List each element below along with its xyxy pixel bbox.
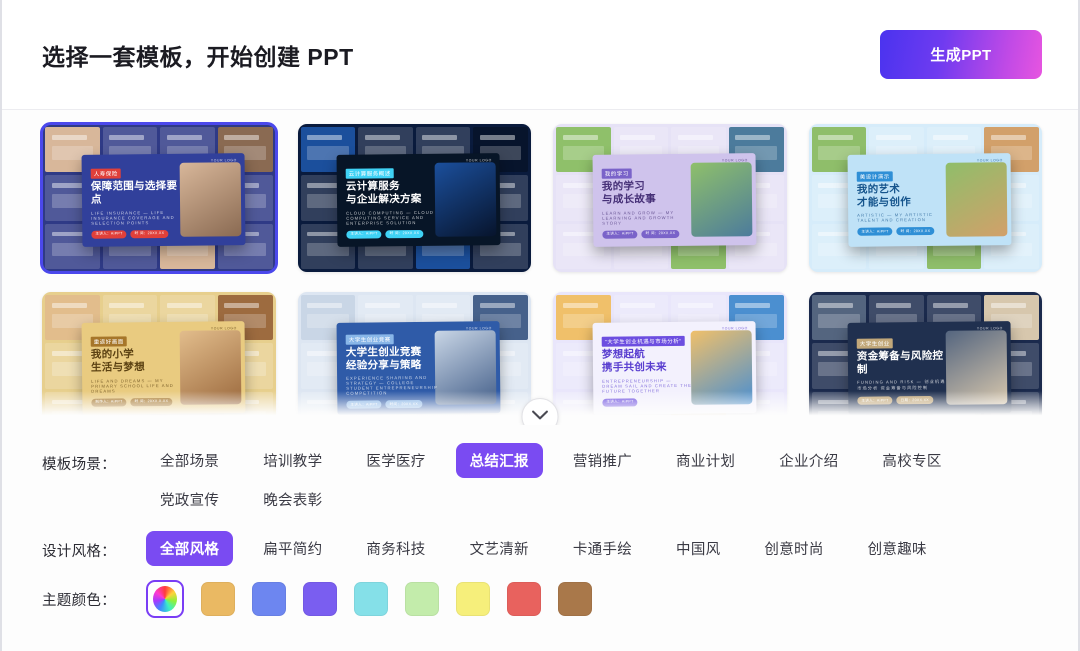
template-meta-item: 主讲人：AiPPT <box>347 400 382 409</box>
template-meta-item: 时 间：20XX.X.XX <box>130 397 172 406</box>
template-meta-item: 主讲人：AiPPT <box>91 229 126 238</box>
template-subtitle: LEARN AND GROW — MY LEARNING AND GROWTH … <box>602 209 694 225</box>
template-photo <box>690 330 751 404</box>
scene-chip-医学医疗[interactable]: 医学医疗 <box>352 443 439 478</box>
template-title: 保障范围与选择要点 <box>90 179 183 206</box>
template-meta: 主讲人：AiPPT时间：20XX.XX <box>347 399 439 408</box>
template-logo: YOUR LOGO <box>722 325 748 329</box>
style-chip-group: 全部风格扁平简约商务科技文艺清新卡通手绘中国风创意时尚创意趣味 <box>146 531 1042 566</box>
scene-chip-晚会表彰[interactable]: 晚会表彰 <box>249 482 336 517</box>
template-text-block: 重返好画面我的小学 生活与梦想LIFE AND DREAMS — MY PRIM… <box>81 329 183 406</box>
color-swatch-8[interactable] <box>558 582 592 616</box>
template-meta: 主讲人：AiPPT日期：20XX.XX <box>857 395 949 404</box>
color-filter-label: 主题颜色： <box>42 580 146 610</box>
template-title: 云计算服务 与企业解决方案 <box>346 179 439 206</box>
template-text-block: 人寿保险保障范围与选择要点LIFE INSURANCE — LIFE INSUR… <box>81 161 183 238</box>
chevron-down-icon <box>532 408 549 426</box>
template-logo: YOUR LOGO <box>722 157 748 161</box>
template-card[interactable]: YOUR LOGO云计算服务概述云计算服务 与企业解决方案CLOUD COMPU… <box>298 124 532 272</box>
scene-chip-总结汇报[interactable]: 总结汇报 <box>456 443 543 478</box>
template-meta-item: 主讲人：AiPPT <box>347 229 382 238</box>
scene-chip-group: 全部场景培训教学医学医疗总结汇报营销推广商业计划企业介绍高校专区党政宣传晚会表彰 <box>146 443 1042 517</box>
template-kicker: 我的学习 <box>601 168 631 178</box>
template-card[interactable]: YOUR LOGO"大学生创业机遇与市场分析"梦想起航 携手共创未来ENTREP… <box>553 292 787 425</box>
template-meta-item: 时 间：20XX.XX <box>897 227 935 236</box>
template-hero-slide: YOUR LOGO"大学生创业机遇与市场分析"梦想起航 携手共创未来ENTREP… <box>592 321 756 414</box>
color-swatch-2[interactable] <box>252 582 286 616</box>
template-kicker: "大学生创业机遇与市场分析" <box>601 336 684 347</box>
template-hero-slide: YOUR LOGO美设计演示我的艺术 才能与创作ARTISTIC — MY AR… <box>848 153 1012 246</box>
style-filter-label: 设计风格： <box>42 531 146 561</box>
template-subtitle: EXPERIENCE SHARING AND STRATEGY — COLLEG… <box>346 374 439 395</box>
color-swatch-group <box>146 580 592 618</box>
template-meta-item: 主讲人：AiPPT <box>602 229 637 238</box>
template-logo: YOUR LOGO <box>211 157 237 161</box>
template-card[interactable]: YOUR LOGO美设计演示我的艺术 才能与创作ARTISTIC — MY AR… <box>809 124 1043 272</box>
template-kicker: 重返好画面 <box>90 336 126 346</box>
template-text-block: 大学生创业资金筹备与风险控制FUNDING AND RISK — 创业机遇市场分… <box>848 331 950 405</box>
filter-row-scene: 模板场景： 全部场景培训教学医学医疗总结汇报营销推广商业计划企业介绍高校专区党政… <box>42 443 1042 517</box>
template-kicker: 云计算服务概述 <box>346 168 394 179</box>
template-photo <box>946 162 1007 236</box>
template-photo <box>690 162 751 236</box>
template-meta-item: 主讲人：AiPPT <box>857 227 892 236</box>
template-meta-item: 主讲人：AiPPT <box>857 396 892 405</box>
style-chip-创意趣味[interactable]: 创意趣味 <box>854 531 941 566</box>
template-title: 资金筹备与风险控制 <box>857 349 950 376</box>
template-text-block: 美设计演示我的艺术 才能与创作ARTISTIC — MY ARTISTIC TA… <box>848 164 950 236</box>
template-card[interactable]: YOUR LOGO我的学习我的学习 与成长故事LEARN AND GROW — … <box>553 124 787 272</box>
template-title: 我的艺术 才能与创作 <box>857 182 950 209</box>
page-title: 选择一套模板，开始创建 PPT <box>42 38 354 72</box>
template-text-block: 我的学习我的学习 与成长故事LEARN AND GROW — MY LEARNI… <box>592 161 694 238</box>
color-wheel-swatch[interactable] <box>146 580 184 618</box>
color-swatch-1[interactable] <box>201 582 235 616</box>
template-photo <box>179 162 240 236</box>
template-subtitle: ENTREPRENEURSHIP — DREAM SAIL AND CREATE… <box>602 377 694 393</box>
filters-section: 模板场景： 全部场景培训教学医学医疗总结汇报营销推广商业计划企业介绍高校专区党政… <box>2 425 1078 651</box>
scene-chip-培训教学[interactable]: 培训教学 <box>249 443 336 478</box>
template-meta: 主讲人：AiPPT时 间：20XX.XX <box>857 226 949 235</box>
template-hero-slide: YOUR LOGO大学生创业资金筹备与风险控制FUNDING AND RISK … <box>848 321 1012 414</box>
template-title: 我的学习 与成长故事 <box>601 179 694 206</box>
template-kicker: 人寿保险 <box>90 168 120 178</box>
color-swatch-5[interactable] <box>405 582 439 616</box>
template-meta-item: 时 间：20XX.XX <box>386 229 424 238</box>
color-wheel-icon <box>153 586 177 612</box>
color-swatch-7[interactable] <box>507 582 541 616</box>
template-hero-slide: YOUR LOGO人寿保险保障范围与选择要点LIFE INSURANCE — L… <box>81 153 245 246</box>
template-subtitle: LIFE INSURANCE — LIFE INSURANCE COVERAGE… <box>91 209 183 225</box>
color-swatch-6[interactable] <box>456 582 490 616</box>
template-photo <box>435 162 496 236</box>
template-meta-item: 制作人：AiPPT <box>91 397 126 406</box>
template-title: 我的小学 生活与梦想 <box>90 347 183 374</box>
style-chip-全部风格[interactable]: 全部风格 <box>146 531 233 566</box>
template-hero-slide: YOUR LOGO我的学习我的学习 与成长故事LEARN AND GROW — … <box>592 153 756 246</box>
template-meta-item: 时 间：20XX.XX <box>641 229 679 238</box>
template-logo: YOUR LOGO <box>466 325 492 329</box>
template-subtitle: LIFE AND DREAMS — MY PRIMARY SCHOOL LIFE… <box>91 377 183 393</box>
template-logo: YOUR LOGO <box>977 325 1003 329</box>
template-subtitle: ARTISTIC — MY ARTISTIC TALENT AND CREATI… <box>857 211 949 222</box>
template-kicker: 大学生创业竞赛 <box>346 333 394 344</box>
template-meta: 主讲人：AiPPT时 间：20XX.XX <box>91 229 183 238</box>
template-grid: YOUR LOGO人寿保险保障范围与选择要点LIFE INSURANCE — L… <box>42 124 1042 425</box>
template-logo: YOUR LOGO <box>466 157 492 161</box>
template-text-block: 云计算服务概述云计算服务 与企业解决方案CLOUD COMPUTING — CL… <box>337 161 439 238</box>
filter-row-color: 主题颜色： <box>42 580 1042 618</box>
style-chip-扁平简约[interactable]: 扁平简约 <box>249 531 336 566</box>
template-meta: 主讲人：AiPPT <box>602 397 694 406</box>
scene-chip-商业计划[interactable]: 商业计划 <box>662 443 749 478</box>
template-card[interactable]: YOUR LOGO大学生创业资金筹备与风险控制FUNDING AND RISK … <box>809 292 1043 425</box>
template-gallery-section: YOUR LOGO人寿保险保障范围与选择要点LIFE INSURANCE — L… <box>2 110 1078 425</box>
generate-ppt-button[interactable]: 生成PPT <box>880 30 1042 79</box>
scene-chip-全部场景[interactable]: 全部场景 <box>146 443 233 478</box>
scene-filter-label: 模板场景： <box>42 443 146 474</box>
scene-chip-企业介绍[interactable]: 企业介绍 <box>765 443 852 478</box>
template-card[interactable]: YOUR LOGO重返好画面我的小学 生活与梦想LIFE AND DREAMS … <box>42 292 276 425</box>
template-subtitle: FUNDING AND RISK — 创业机遇市场分析 资金筹备与风险控制 <box>857 378 949 391</box>
style-chip-卡通手绘[interactable]: 卡通手绘 <box>559 531 646 566</box>
template-title: 梦想起航 携手共创未来 <box>601 347 694 374</box>
style-chip-中国风[interactable]: 中国风 <box>662 531 734 566</box>
template-text-block: "大学生创业机遇与市场分析"梦想起航 携手共创未来ENTREPRENEURSHI… <box>592 329 694 406</box>
template-logo: YOUR LOGO <box>977 157 1003 161</box>
filter-row-style: 设计风格： 全部风格扁平简约商务科技文艺清新卡通手绘中国风创意时尚创意趣味 <box>42 531 1042 566</box>
style-chip-文艺清新[interactable]: 文艺清新 <box>456 531 543 566</box>
template-meta: 主讲人：AiPPT时 间：20XX.XX <box>347 229 439 238</box>
template-subtitle: CLOUD COMPUTING — CLOUD COMPUTING SERVIC… <box>346 209 438 225</box>
page-header: 选择一套模板，开始创建 PPT 生成PPT <box>2 0 1078 110</box>
template-meta-item: 时间：20XX.XX <box>386 400 422 409</box>
color-swatch-3[interactable] <box>303 582 337 616</box>
scene-chip-党政宣传[interactable]: 党政宣传 <box>146 482 233 517</box>
template-kicker: 大学生创业 <box>857 338 893 348</box>
template-photo <box>946 330 1007 404</box>
template-kicker: 美设计演示 <box>857 171 893 181</box>
template-hero-slide: YOUR LOGO大学生创业竞赛大学生创业竞赛 经验分享与策略EXPERIENC… <box>337 321 501 414</box>
style-chip-商务科技[interactable]: 商务科技 <box>352 531 439 566</box>
template-hero-slide: YOUR LOGO重返好画面我的小学 生活与梦想LIFE AND DREAMS … <box>81 321 245 414</box>
template-photo <box>179 330 240 404</box>
scene-chip-高校专区[interactable]: 高校专区 <box>868 443 955 478</box>
template-meta: 主讲人：AiPPT时 间：20XX.XX <box>602 229 694 238</box>
style-chip-创意时尚[interactable]: 创意时尚 <box>750 531 837 566</box>
template-meta: 制作人：AiPPT时 间：20XX.X.XX <box>91 397 183 406</box>
template-logo: YOUR LOGO <box>211 325 237 329</box>
template-picker-page: 选择一套模板，开始创建 PPT 生成PPT YOUR LOGO人寿保险保障范围与… <box>0 0 1080 651</box>
template-hero-slide: YOUR LOGO云计算服务概述云计算服务 与企业解决方案CLOUD COMPU… <box>337 153 501 246</box>
template-text-block: 大学生创业竞赛大学生创业竞赛 经验分享与策略EXPERIENCE SHARING… <box>337 327 439 409</box>
template-photo <box>435 330 496 404</box>
template-meta-item: 时 间：20XX.XX <box>130 229 168 238</box>
template-title: 大学生创业竞赛 经验分享与策略 <box>346 345 439 372</box>
scene-chip-营销推广[interactable]: 营销推广 <box>559 443 646 478</box>
color-swatch-4[interactable] <box>354 582 388 616</box>
template-card[interactable]: YOUR LOGO大学生创业竞赛大学生创业竞赛 经验分享与策略EXPERIENC… <box>298 292 532 425</box>
template-meta-item: 主讲人：AiPPT <box>602 397 637 406</box>
template-card[interactable]: YOUR LOGO人寿保险保障范围与选择要点LIFE INSURANCE — L… <box>42 124 276 272</box>
template-meta-item: 日期：20XX.XX <box>897 396 933 405</box>
